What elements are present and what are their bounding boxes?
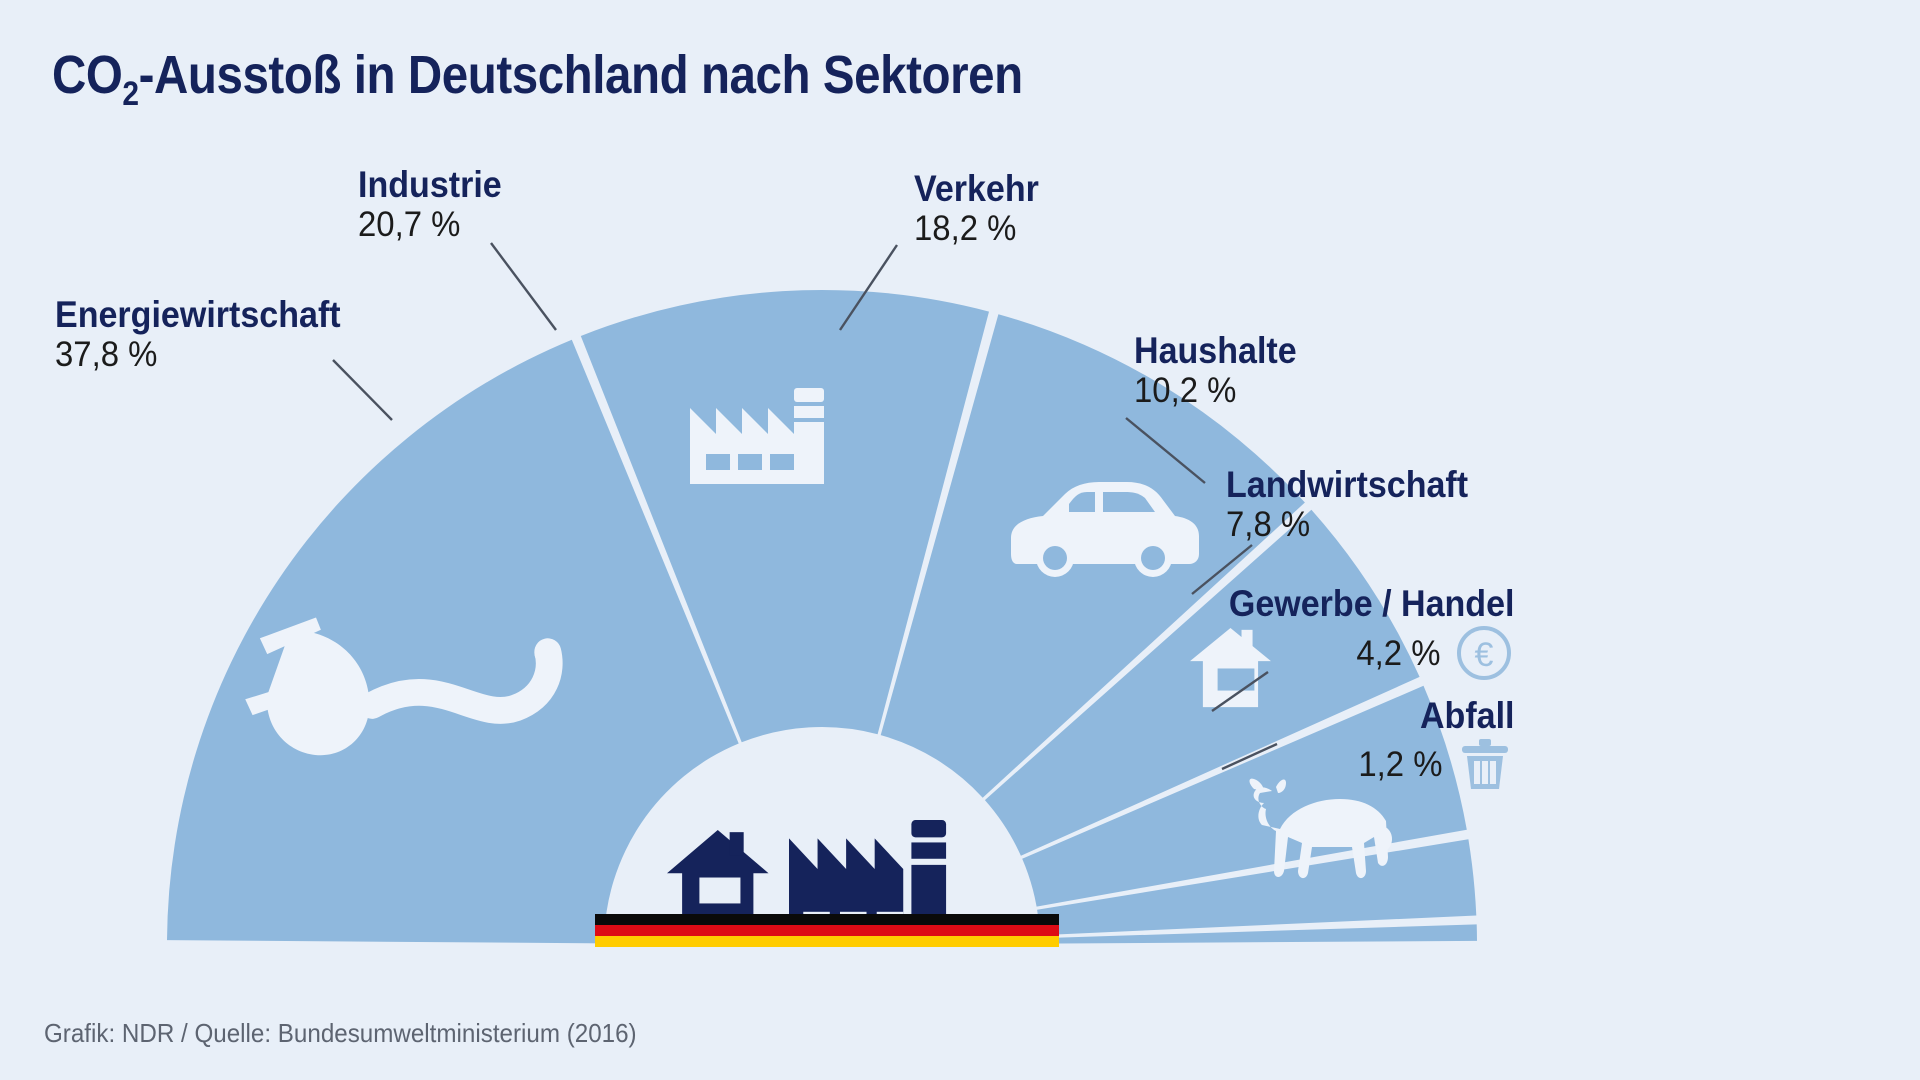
half-donut-chart — [0, 0, 1920, 1080]
callout-industrie[interactable]: Industrie 20,7 % — [358, 165, 514, 246]
callout-verkehr[interactable]: Verkehr 18,2 % — [914, 169, 1050, 250]
svg-text:€: € — [1475, 636, 1494, 674]
trash-bin-icon — [1456, 735, 1514, 793]
callout-label-haushalte: Haushalte — [1134, 331, 1297, 370]
callout-value-verkehr: 18,2 % — [914, 208, 1042, 249]
callout-label-landwirtschaft: Landwirtschaft — [1226, 465, 1468, 504]
callout-abfall[interactable]: Abfall 1,2 % — [1353, 696, 1515, 793]
euro-coin-icon: € — [1454, 623, 1514, 683]
leader-line-industrie — [491, 243, 556, 330]
callout-label-abfall: Abfall — [1365, 696, 1514, 735]
callout-label-gewerbe-handel: Gewerbe / Handel — [1228, 584, 1514, 623]
callout-value-haushalte: 10,2 % — [1134, 370, 1300, 411]
callout-gewerbe-handel[interactable]: Gewerbe / Handel 4,2 % € — [1204, 584, 1515, 683]
germany-house-factory-emblem — [595, 820, 1059, 947]
callout-energiewirtschaft[interactable]: Energiewirtschaft 37,8 % — [55, 295, 365, 376]
callout-value-landwirtschaft: 7,8 % — [1226, 504, 1473, 545]
callout-value-energiewirtschaft: 37,8 % — [55, 334, 347, 375]
infographic-canvas: CO2-Ausstoß in Deutschland nach Sektoren — [0, 0, 1920, 1080]
callout-label-energiewirtschaft: Energiewirtschaft — [55, 295, 341, 334]
callout-landwirtschaft[interactable]: Landwirtschaft 7,8 % — [1226, 465, 1489, 546]
callout-label-verkehr: Verkehr — [914, 169, 1039, 208]
callout-value-industrie: 20,7 % — [358, 204, 505, 245]
callout-value-abfall: 1,2 % — [1358, 744, 1442, 785]
callout-label-industrie: Industrie — [358, 165, 502, 204]
callout-value-gewerbe-handel: 4,2 % — [1356, 633, 1440, 674]
german-flag-bar — [595, 914, 1059, 947]
source-credit: Grafik: NDR / Quelle: Bundesumweltminist… — [44, 1018, 637, 1049]
callout-haushalte[interactable]: Haushalte 10,2 % — [1134, 331, 1311, 412]
